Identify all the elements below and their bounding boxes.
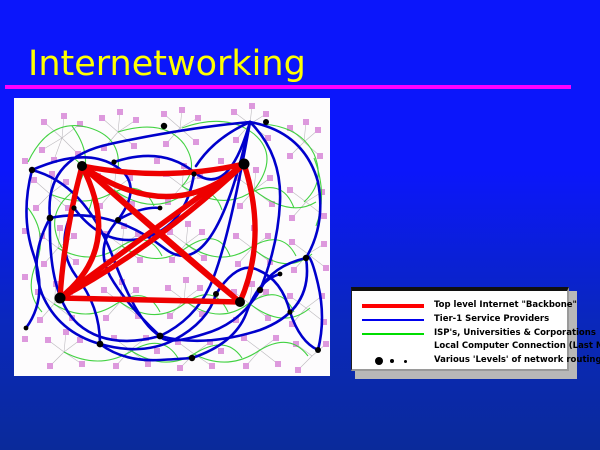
- legend-label-isp: ISP's, Universities & Corporations: [434, 327, 596, 340]
- tier1-line-swatch: [362, 313, 424, 326]
- small-dot-icon: [404, 360, 407, 363]
- legend: Top level Internet "Backbone" Tier-1 Ser…: [351, 287, 573, 375]
- legend-row-isp: ISP's, Universities & Corporations: [352, 327, 567, 340]
- title-underline-rule: [5, 85, 571, 89]
- medium-dot-icon: [390, 359, 394, 363]
- legend-box: Top level Internet "Backbone" Tier-1 Ser…: [351, 287, 569, 371]
- legend-label-levels: Various 'Levels' of network routing: [434, 354, 600, 367]
- legend-row-tier1: Tier-1 Service Providers: [352, 313, 567, 326]
- slide-canvas: Internetworking: [0, 0, 600, 450]
- legend-label-backbone: Top level Internet "Backbone": [434, 299, 577, 312]
- internet-topology-image: [14, 98, 330, 376]
- legend-label-tier1: Tier-1 Service Providers: [434, 313, 549, 326]
- legend-row-backbone: Top level Internet "Backbone": [352, 299, 567, 312]
- isp-line-swatch: [362, 327, 424, 340]
- legend-label-local: Local Computer Connection (Last Mile): [434, 340, 600, 353]
- large-dot-icon: [375, 357, 383, 365]
- routing-levels-dots-swatch: [362, 354, 424, 367]
- local-line-swatch: [362, 340, 424, 353]
- backbone-line-swatch: [362, 299, 424, 312]
- legend-row-levels: Various 'Levels' of network routing: [352, 354, 567, 367]
- page-title: Internetworking: [28, 44, 306, 84]
- legend-row-local: Local Computer Connection (Last Mile): [352, 340, 567, 353]
- topology-svg: [14, 98, 330, 376]
